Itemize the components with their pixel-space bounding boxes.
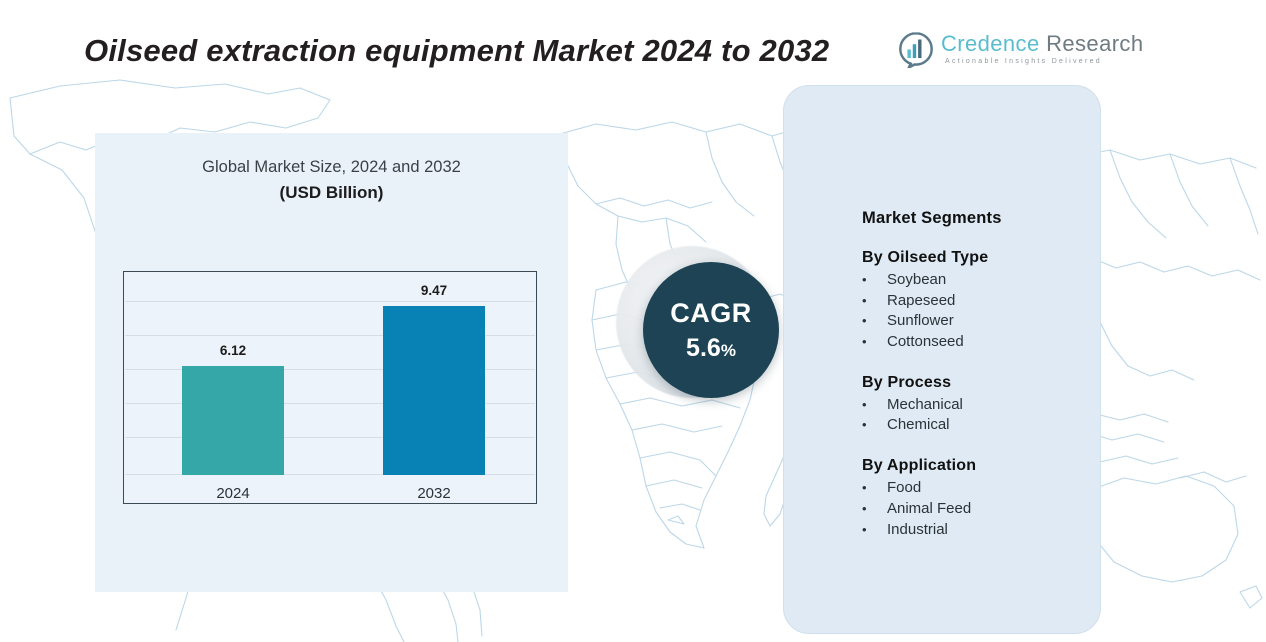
category-label-2032: 2032 <box>383 485 485 502</box>
segment-item-label: Industrial <box>887 520 948 541</box>
segment-group-process: By Process •Mechanical •Chemical <box>862 374 1092 436</box>
segment-item: •Rapeseed <box>862 291 1092 312</box>
category-label-2024: 2024 <box>182 485 284 502</box>
segment-group-oilseed-type: By Oilseed Type •Soybean •Rapeseed •Sunf… <box>862 249 1092 353</box>
bullet-icon: • <box>862 312 887 330</box>
cagr-badge: CAGR 5.6% <box>610 238 810 428</box>
segment-item-label: Sunflower <box>887 311 954 332</box>
bullet-icon: • <box>862 396 887 414</box>
segment-item: •Food <box>862 478 1092 499</box>
bullet-icon: • <box>862 416 887 434</box>
segments-heading: Market Segments <box>862 209 1092 228</box>
chart-title: Global Market Size, 2024 and 2032 <box>95 158 568 177</box>
bar-2024 <box>182 366 284 475</box>
segment-item-label: Cottonseed <box>887 332 964 353</box>
cagr-percent-sign: % <box>721 341 736 360</box>
segment-item-label: Chemical <box>887 415 950 436</box>
bullet-icon: • <box>862 500 887 518</box>
cagr-label: CAGR <box>670 300 752 327</box>
bullet-icon: • <box>862 333 887 351</box>
logo-tagline: Actionable Insights Delivered <box>945 58 1102 65</box>
chart-bars-circle-logo-icon <box>897 30 935 68</box>
page-title: Oilseed extraction equipment Market 2024… <box>84 33 829 69</box>
segment-item: •Cottonseed <box>862 332 1092 353</box>
segment-item: •Animal Feed <box>862 499 1092 520</box>
segment-item-label: Soybean <box>887 270 946 291</box>
bar-value-2024: 6.12 <box>182 343 284 358</box>
segment-item-label: Animal Feed <box>887 499 971 520</box>
bar-2032 <box>383 306 485 475</box>
infographic-canvas: Oilseed extraction equipment Market 2024… <box>0 0 1266 642</box>
segment-item-label: Mechanical <box>887 395 963 416</box>
segment-item-label: Food <box>887 478 921 499</box>
cagr-value-row: 5.6% <box>686 336 736 361</box>
logo-name-primary: Credence <box>941 31 1040 56</box>
logo-name-secondary: Research <box>1040 31 1144 56</box>
chart-subtitle: (USD Billion) <box>95 183 568 203</box>
bullet-icon: • <box>862 479 887 497</box>
logo-name: Credence Research <box>941 31 1143 57</box>
brand-logo: Credence Research Actionable Insights De… <box>897 27 1087 71</box>
bullet-icon: • <box>862 521 887 539</box>
segments-content: Market Segments By Oilseed Type •Soybean… <box>862 209 1092 540</box>
segment-item-label: Rapeseed <box>887 291 955 312</box>
segment-item: •Chemical <box>862 415 1092 436</box>
segment-group-title: By Process <box>862 374 1092 392</box>
bar-chart: 6.12 2024 9.47 2032 <box>123 271 537 504</box>
segment-group-application: By Application •Food •Animal Feed •Indus… <box>862 457 1092 540</box>
segment-item: •Mechanical <box>862 395 1092 416</box>
bullet-icon: • <box>862 292 887 310</box>
cagr-value: 5.6 <box>686 334 721 362</box>
bar-value-2032: 9.47 <box>383 283 485 298</box>
segment-item: •Soybean <box>862 270 1092 291</box>
bullet-icon: • <box>862 271 887 289</box>
cagr-circle: CAGR 5.6% <box>643 262 779 398</box>
segment-group-title: By Application <box>862 457 1092 475</box>
segment-item: •Industrial <box>862 520 1092 541</box>
segment-group-title: By Oilseed Type <box>862 249 1092 267</box>
segment-item: •Sunflower <box>862 311 1092 332</box>
